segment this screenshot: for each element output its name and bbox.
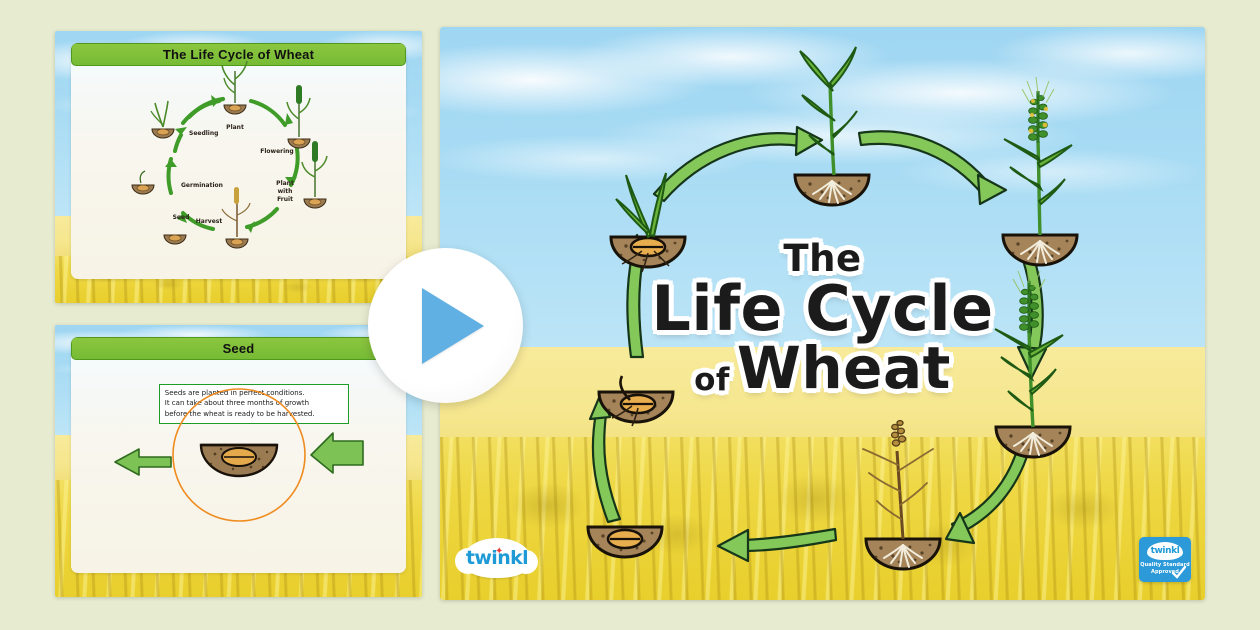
arrow-left xyxy=(115,449,171,475)
slide-thumbnail-2[interactable]: Seed Seeds are planted in perfect condit… xyxy=(55,325,422,597)
stage-plant-with-fruit xyxy=(302,141,327,208)
main-life-cycle-illustration xyxy=(440,27,1205,600)
life-cycle-diagram: Plant Flowering xyxy=(71,43,406,278)
arrowhead-plant-to-flowering xyxy=(978,175,1006,204)
arrow-plant-to-flowering xyxy=(859,131,992,195)
arrowhead-harvest-to-seed xyxy=(718,530,748,561)
arrow-seed-to-germination xyxy=(593,413,620,522)
check-icon xyxy=(1172,566,1186,580)
stage-seed xyxy=(588,527,662,557)
slide-content-card: The Life Cycle of Wheat xyxy=(71,43,406,278)
arrow-seedling-to-plant xyxy=(654,133,802,201)
cycle-label-fruit-3: Fruit xyxy=(277,196,293,203)
slide-content-card: Seed Seeds are planted in perfect condit… xyxy=(71,337,406,572)
seed-illustration xyxy=(71,337,406,561)
cycle-label-plant: Plant xyxy=(226,124,244,131)
arrow-germination-to-seedling xyxy=(627,255,643,357)
stage-plant xyxy=(222,61,247,114)
twinkl-wordmark: twinkl xyxy=(462,538,532,578)
stage-harvest xyxy=(222,187,250,248)
seed-bowl xyxy=(201,445,277,476)
cycle-svg: Plant Flowering xyxy=(71,43,406,267)
cycle-label-harvest: Harvest xyxy=(196,218,223,225)
main-slide-preview[interactable]: The Life Cycle ofWheat twinkl ✦ twinkl Q… xyxy=(440,27,1205,600)
stage-seedling xyxy=(151,101,174,138)
stage-harvest xyxy=(863,421,940,569)
stage-germination xyxy=(132,171,154,194)
stage-plant xyxy=(795,47,869,205)
arrow-harvest-to-seed xyxy=(744,529,836,551)
star-icon: ✦ xyxy=(495,547,503,557)
play-video-button[interactable] xyxy=(368,248,523,403)
play-triangle-icon xyxy=(422,288,484,364)
stage-flowering xyxy=(287,85,310,148)
cycle-label-fruit-1: Plant xyxy=(276,180,294,187)
arrow-right xyxy=(311,433,363,473)
stage-flowering xyxy=(1003,77,1077,265)
stage-germination xyxy=(599,376,673,426)
cycle-label-fruit-2: with xyxy=(277,188,292,195)
cycle-label-flowering: Flowering xyxy=(260,148,293,155)
page-root: The Life Cycle of Wheat xyxy=(0,0,1260,630)
cycle-label-seedling: Seedling xyxy=(189,130,218,137)
twinkl-logo: twinkl ✦ xyxy=(462,538,532,578)
quality-standard-badge: twinkl Quality Standard Approved xyxy=(1139,537,1191,582)
stage-seed xyxy=(164,235,186,244)
cycle-label-seed: Seed xyxy=(172,214,189,221)
badge-twinkl-wordmark: twinkl xyxy=(1147,542,1183,560)
slide-thumbnail-1[interactable]: The Life Cycle of Wheat xyxy=(55,31,422,303)
cycle-label-germination: Germination xyxy=(181,182,223,189)
